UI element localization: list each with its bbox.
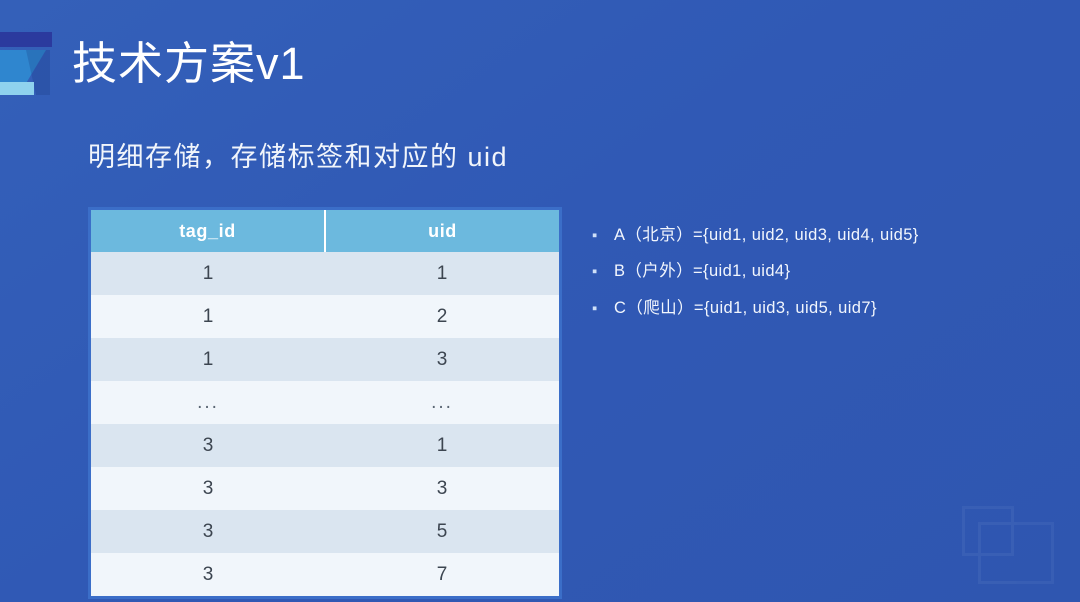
table-row: 11: [91, 252, 559, 295]
cell-uid: 1: [325, 252, 559, 295]
slide-canvas: 技术方案v1 明细存储，存储标签和对应的 uid tag_id uid 1112…: [0, 0, 1080, 602]
list-item: ▪ A（北京）={uid1, uid2, uid3, uid4, uid5}: [592, 224, 1042, 246]
table-header-row: tag_id uid: [91, 210, 559, 252]
list-item: ▪ B（户外）={uid1, uid4}: [592, 260, 1042, 282]
cell-uid: 2: [325, 295, 559, 338]
page-title: 技术方案v1: [72, 38, 306, 90]
cell-uid: 3: [325, 467, 559, 510]
table-row: 33: [91, 467, 559, 510]
list-item-label: A（北京）={uid1, uid2, uid3, uid4, uid5}: [614, 224, 1042, 246]
corner-logo-bar-shape: [0, 32, 52, 47]
cell-tag-id: 3: [91, 553, 325, 596]
table-row: 31: [91, 424, 559, 467]
corner-logo-foot-shape: [0, 82, 34, 95]
cell-uid: 3: [325, 338, 559, 381]
corner-logo-mark: [0, 30, 56, 100]
column-header-tag-id: tag_id: [91, 210, 325, 252]
list-item-label: B（户外）={uid1, uid4}: [614, 260, 1042, 282]
cell-tag-id: 3: [91, 467, 325, 510]
cell-tag-id: 1: [91, 295, 325, 338]
table-row: 12: [91, 295, 559, 338]
bullet-point-icon: ▪: [592, 301, 614, 316]
cell-tag-id: 3: [91, 510, 325, 553]
cell-uid: 7: [325, 553, 559, 596]
cell-tag-id: 1: [91, 252, 325, 295]
background-watermark: [944, 496, 1054, 584]
table-row: 37: [91, 553, 559, 596]
cell-tag-id: ...: [91, 381, 325, 424]
bullet-point-icon: ▪: [592, 228, 614, 243]
watermark-square-inner: [962, 506, 1014, 556]
table: tag_id uid 111213......31333537: [91, 210, 559, 596]
cell-uid: ...: [325, 381, 559, 424]
bullet-point-icon: ▪: [592, 264, 614, 279]
page-subtitle: 明细存储，存储标签和对应的 uid: [88, 140, 508, 175]
detail-storage-table: tag_id uid 111213......31333537: [88, 207, 562, 599]
table-body: 111213......31333537: [91, 252, 559, 596]
column-header-uid: uid: [325, 210, 559, 252]
table-head: tag_id uid: [91, 210, 559, 252]
cell-tag-id: 3: [91, 424, 325, 467]
tag-set-bullet-list: ▪ A（北京）={uid1, uid2, uid3, uid4, uid5} ▪…: [592, 224, 1042, 333]
cell-uid: 1: [325, 424, 559, 467]
table-row: ......: [91, 381, 559, 424]
table-row: 13: [91, 338, 559, 381]
list-item-label: C（爬山）={uid1, uid3, uid5, uid7}: [614, 297, 1042, 319]
cell-uid: 5: [325, 510, 559, 553]
table-row: 35: [91, 510, 559, 553]
list-item: ▪ C（爬山）={uid1, uid3, uid5, uid7}: [592, 297, 1042, 319]
cell-tag-id: 1: [91, 338, 325, 381]
